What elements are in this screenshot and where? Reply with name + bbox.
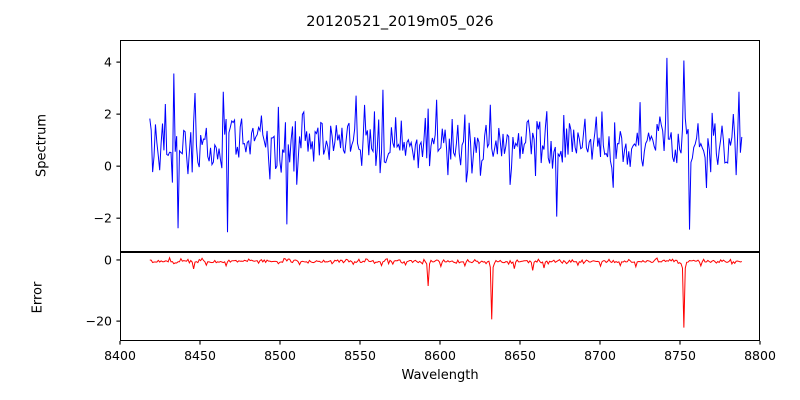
error-plot-panel: [120, 252, 760, 341]
error-data-line: [121, 253, 760, 341]
page-title: 20120521_2019m05_026: [0, 14, 800, 30]
x-tick-label-8450: 8450: [184, 348, 216, 363]
x-tick-label-8650: 8650: [504, 348, 536, 363]
x-axis-label: Wavelength: [120, 368, 760, 383]
x-tick-label-8700: 8700: [584, 348, 616, 363]
y-tick-label-spectrum-2: 2: [78, 107, 112, 122]
x-tick-label-8600: 8600: [424, 348, 456, 363]
x-tick-label-8550: 8550: [344, 348, 376, 363]
x-tick-label-8500: 8500: [264, 348, 296, 363]
x-tick-label-8750: 8750: [664, 348, 696, 363]
y-tick-label-spectrum-4: 4: [78, 55, 112, 70]
spectrum-plot-panel: [120, 40, 760, 252]
x-tick-label-8800: 8800: [744, 348, 776, 363]
y-tick-label-spectrum-0: 0: [78, 159, 112, 174]
y-tick-label-error--20: −20: [72, 314, 112, 329]
spectrum-data-line: [121, 41, 760, 252]
x-tick-label-8400: 8400: [104, 348, 136, 363]
y-axis-label-error: Error: [31, 248, 46, 348]
spectrum-figure: 20120521_2019m05_026 Spectrum Error Wave…: [0, 0, 800, 400]
y-axis-label-spectrum: Spectrum: [35, 86, 50, 206]
y-tick-label-spectrum--2: −2: [78, 211, 112, 226]
y-tick-label-error-0: 0: [72, 252, 112, 267]
